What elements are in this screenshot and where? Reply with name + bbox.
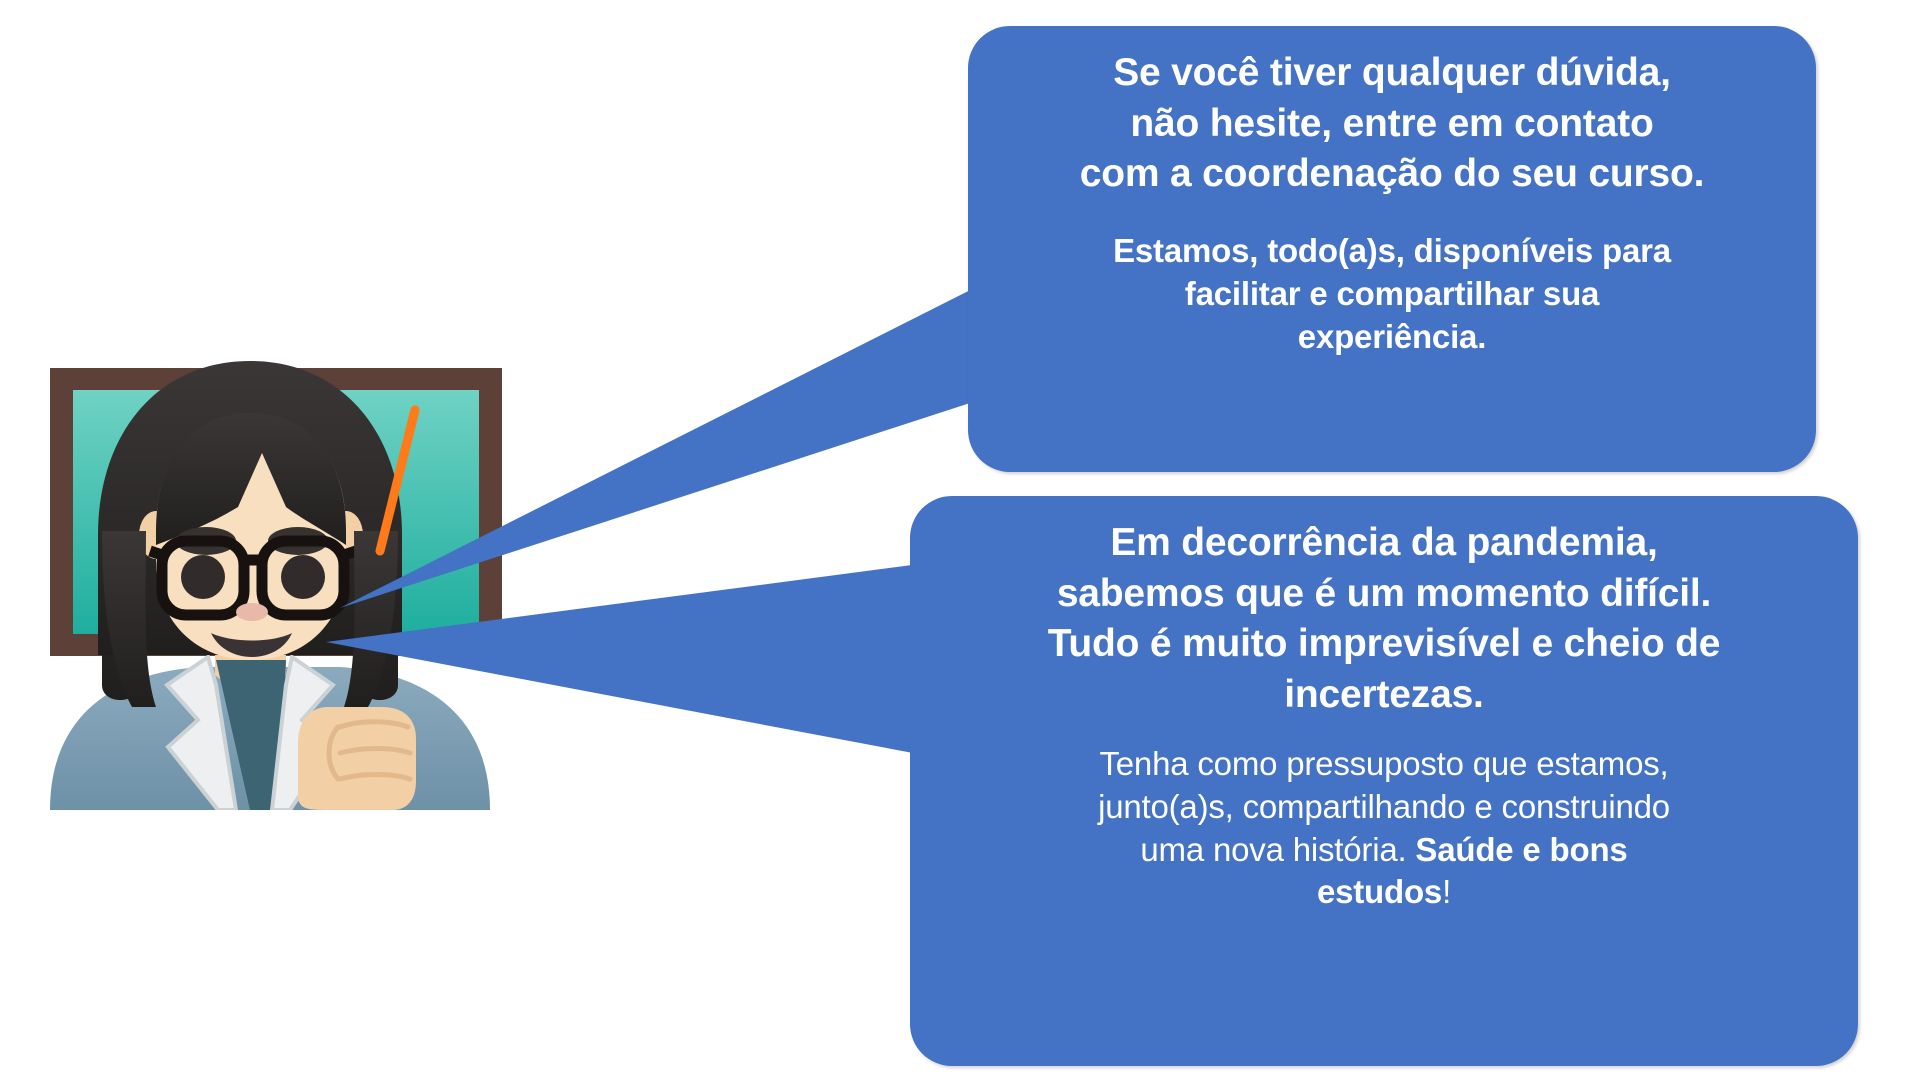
- bubble2-body-bold-1: Saúde e bons: [1415, 831, 1627, 868]
- bubble2-body-line-2: junto(a)s, compartilhando e construindo: [944, 786, 1824, 829]
- bubble2-head-line-3: Tudo é muito imprevisível e cheio de: [944, 619, 1824, 670]
- bubble2-body-line-3: uma nova história. Saúde e bons: [944, 829, 1824, 872]
- bubble1-sub-line-1: Estamos, todo(a)s, disponíveis para: [998, 230, 1786, 273]
- bubble2-body-line-1: Tenha como pressuposto que estamos,: [944, 743, 1824, 786]
- bubble2-body-tail: !: [1442, 873, 1451, 910]
- slide-canvas: Se você tiver qualquer dúvida, não hesit…: [0, 0, 1920, 1080]
- bubble2-head-line-1: Em decorrência da pandemia,: [944, 518, 1824, 569]
- bubble2-body-line-4: estudos!: [944, 871, 1824, 914]
- bubble2-spacer: [944, 721, 1824, 743]
- bubble1-sub-line-2: facilitar e compartilhar sua: [998, 273, 1786, 316]
- bubble1-head-line-2: não hesite, entre em contato: [998, 99, 1786, 150]
- illustration-group: [50, 361, 502, 810]
- bubble2-head-line-2: sabemos que é um momento difícil.: [944, 569, 1824, 620]
- speech-bubble-contact-coordination[interactable]: Se você tiver qualquer dúvida, não hesit…: [968, 26, 1816, 472]
- bubble1-head-line-1: Se você tiver qualquer dúvida,: [998, 48, 1786, 99]
- bubble1-sub-line-3: experiência.: [998, 316, 1786, 359]
- teacher-illustration: [40, 355, 510, 810]
- bubble2-body-line-3-regular: uma nova história.: [1140, 831, 1415, 868]
- teacher-nose: [236, 603, 268, 621]
- bubble1-spacer: [998, 200, 1786, 230]
- teacher-eye-right: [281, 555, 325, 599]
- bubble2-head-line-4: incertezas.: [944, 670, 1824, 721]
- bubble1-head-line-3: com a coordenação do seu curso.: [998, 149, 1786, 200]
- teacher-eye-left: [181, 555, 225, 599]
- bubble2-body-bold-2: estudos: [1317, 873, 1442, 910]
- speech-bubble-pandemic-message[interactable]: Em decorrência da pandemia, sabemos que …: [910, 496, 1858, 1066]
